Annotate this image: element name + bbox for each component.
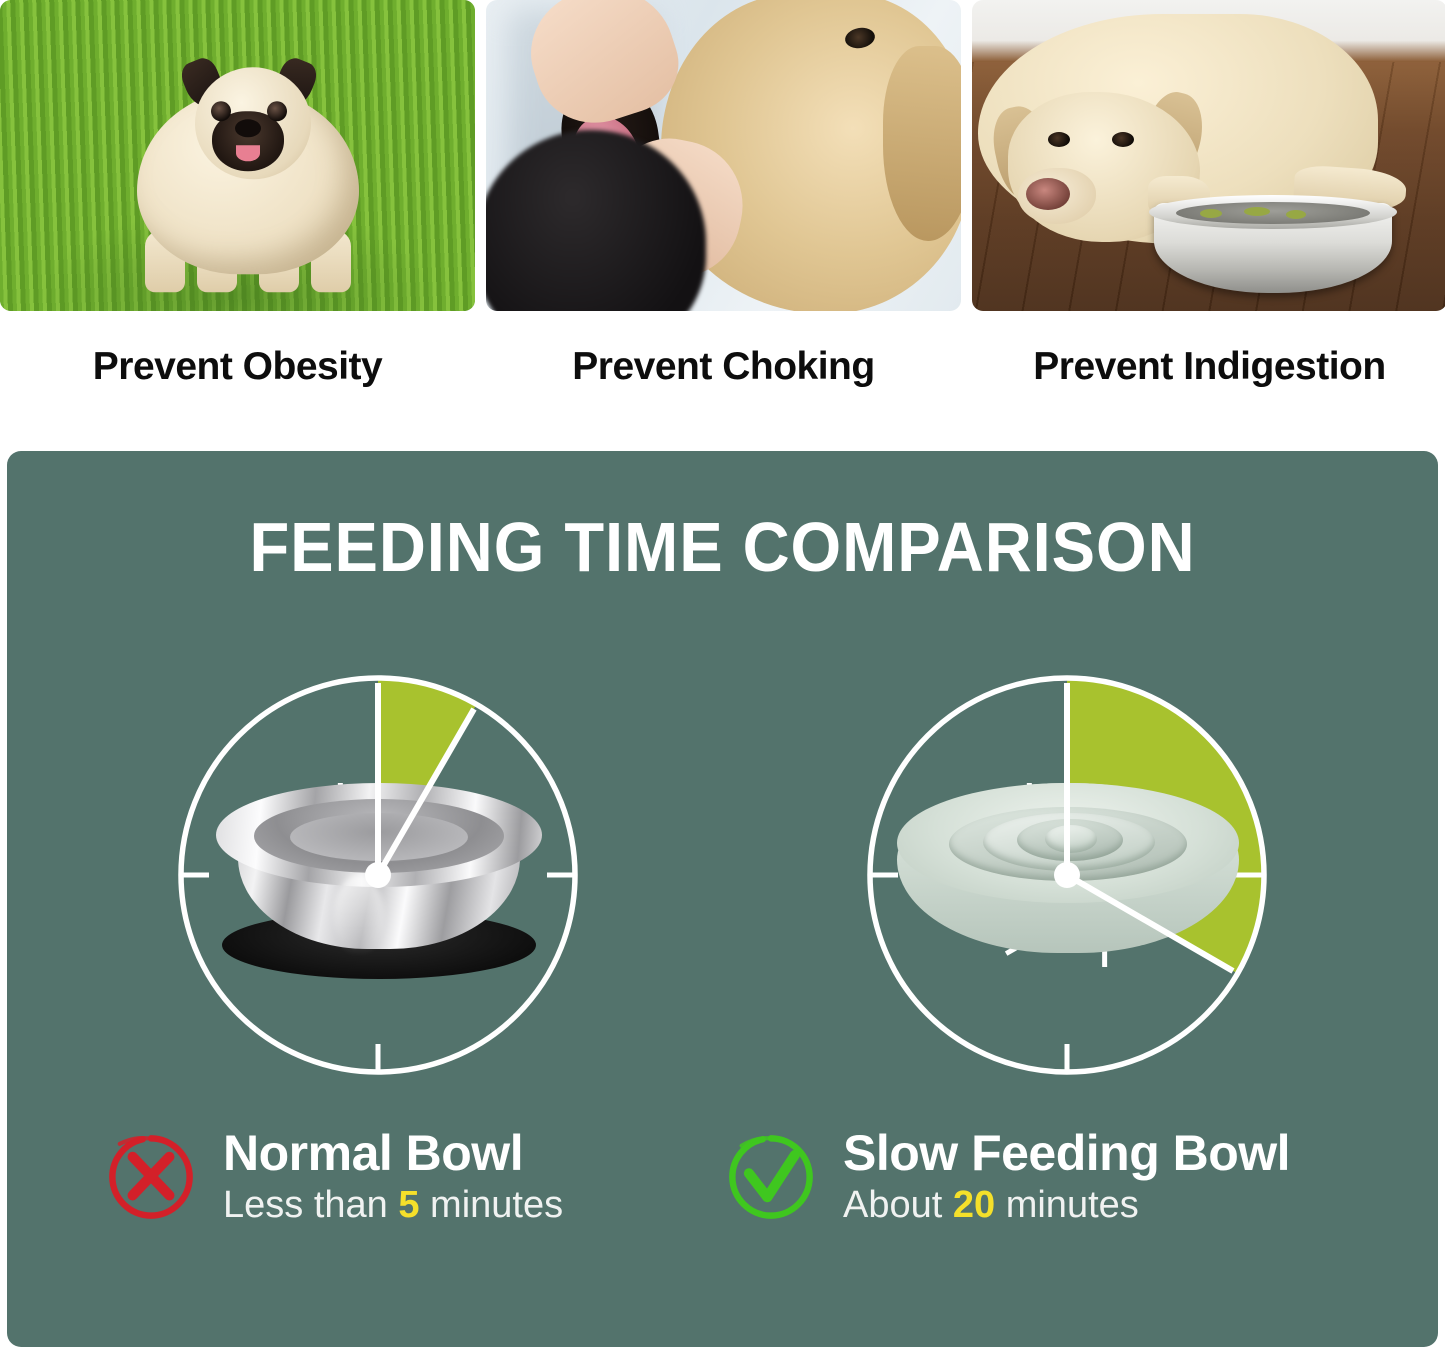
label-title-normal-bowl: Normal Bowl xyxy=(223,1127,563,1180)
label-title-slow-feeding-bowl: Slow Feeding Bowl xyxy=(843,1127,1290,1180)
red-circled-x-icon xyxy=(105,1131,197,1223)
clock-comparison-row xyxy=(7,665,1438,1095)
clock-normal-bowl xyxy=(168,665,588,1085)
clock-hands-slow xyxy=(857,665,1277,1085)
photo-sad-labrador xyxy=(972,0,1445,311)
label-slow-feeding-bowl: Slow Feeding Bowl About 20 minutes xyxy=(725,1127,1290,1227)
benefit-caption-obesity: Prevent Obesity xyxy=(93,345,382,389)
infographic-root: Prevent Obesity Prevent Choking xyxy=(0,0,1445,1353)
pug-figure xyxy=(123,49,373,294)
sub-value: 20 xyxy=(953,1184,995,1226)
minute-hand-end xyxy=(378,709,474,875)
benefits-row: Prevent Obesity Prevent Choking xyxy=(0,0,1445,430)
clock-slow-feeding-bowl xyxy=(857,665,1277,1085)
feeding-time-comparison-panel: FEEDING TIME COMPARISON xyxy=(7,451,1438,1347)
benefit-card-obesity: Prevent Obesity xyxy=(0,0,475,430)
page-title: FEEDING TIME COMPARISON xyxy=(57,507,1388,587)
sub-suffix: minutes xyxy=(995,1184,1139,1226)
sub-suffix: minutes xyxy=(419,1184,563,1226)
clock-hub xyxy=(1054,862,1080,888)
benefit-card-choking: Prevent Choking xyxy=(486,0,961,430)
benefit-caption-choking: Prevent Choking xyxy=(572,345,874,389)
photo-overweight-pug xyxy=(0,0,475,311)
benefit-caption-indigestion: Prevent Indigestion xyxy=(1033,345,1385,389)
label-sub-normal-bowl: Less than 5 minutes xyxy=(223,1184,563,1227)
clock-hub xyxy=(365,862,391,888)
sub-prefix: About xyxy=(843,1184,953,1226)
minute-hand-end xyxy=(1067,875,1233,971)
comparison-labels-row: Normal Bowl Less than 5 minutes Slow Fee… xyxy=(7,1127,1438,1267)
sub-prefix: Less than xyxy=(223,1184,398,1226)
sub-value: 5 xyxy=(398,1184,419,1226)
label-normal-bowl: Normal Bowl Less than 5 minutes xyxy=(105,1127,563,1227)
clock-hands-normal xyxy=(168,665,588,1085)
photo-dog-mouth-check xyxy=(486,0,961,311)
green-circled-check-icon xyxy=(725,1131,817,1223)
label-sub-slow-feeding-bowl: About 20 minutes xyxy=(843,1184,1290,1227)
benefit-card-indigestion: Prevent Indigestion xyxy=(972,0,1445,430)
